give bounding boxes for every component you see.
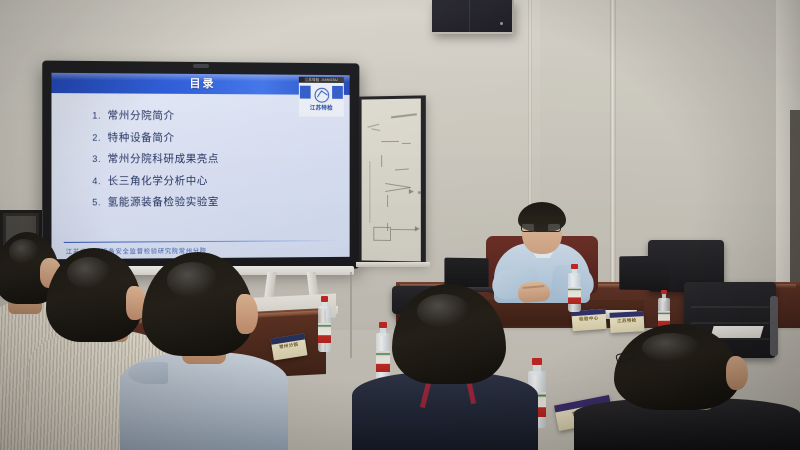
whiteboard-mark	[369, 161, 370, 223]
bottle-label	[568, 287, 581, 304]
bottle-label	[318, 323, 331, 343]
whiteboard-mark	[387, 195, 388, 207]
bottle-neck	[533, 364, 540, 375]
presenter-hands	[517, 281, 551, 304]
water-bottle	[318, 296, 331, 352]
slide-contents-list: 1. 常州分院简介 2. 特种设备简介 3. 常州分院科研成果亮点 4. 长三角…	[92, 107, 344, 216]
list-item-number: 4.	[92, 176, 107, 186]
door-gap	[790, 110, 800, 300]
bottle-cap	[661, 290, 668, 294]
hair-highlight	[642, 333, 700, 362]
whiteboard-mark	[418, 191, 421, 194]
attendee-ear	[236, 294, 258, 334]
power-cable	[350, 272, 352, 358]
list-item-label: 长三角化学分析中心	[108, 172, 208, 187]
list-item-label: 氢能源装备检验实验室	[108, 194, 219, 209]
whiteboard-mark	[387, 223, 388, 231]
bottle-cap	[532, 358, 542, 365]
name-placard: 检验中心	[571, 309, 606, 331]
slide-screen: 目录 江苏特检 JIANGSU 江苏特检 1. 常州分院简介 2.	[51, 73, 349, 259]
hair-highlight	[9, 239, 39, 263]
list-item: 3. 常州分院科研成果亮点	[92, 151, 344, 166]
whiteboard-mark	[391, 113, 417, 118]
glasses-icon	[521, 223, 561, 232]
wall-column	[610, 0, 616, 300]
whiteboard-mark	[385, 187, 411, 192]
list-item-label: 常州分院简介	[108, 108, 175, 123]
smart-display[interactable]: 目录 江苏特检 JIANGSU 江苏特检 1. 常州分院简介 2.	[44, 62, 362, 270]
water-bottle	[376, 322, 390, 382]
logo-text: 江苏特检	[310, 104, 333, 112]
list-item-number: 1.	[92, 110, 107, 120]
list-item: 5. 氢能源装备检验实验室	[92, 194, 344, 210]
list-item-number: 3.	[92, 154, 107, 164]
whiteboard-mark	[395, 168, 409, 170]
list-item-label: 特种设备简介	[108, 129, 175, 144]
bottle-neck	[380, 327, 386, 337]
list-item: 1. 常州分院简介	[92, 107, 344, 123]
chair-armrest	[770, 296, 778, 356]
list-item-label: 常州分院科研成果亮点	[108, 151, 219, 166]
hair-highlight	[167, 262, 219, 297]
glasses-left-lens	[521, 223, 535, 232]
bottle-cap	[321, 296, 328, 302]
placard-text: 江苏特检	[610, 317, 644, 325]
bottle-neck	[662, 294, 667, 301]
speaker-led	[500, 22, 503, 25]
whiteboard	[359, 95, 426, 264]
speaker-seam	[469, 0, 470, 32]
glasses-right-lens	[547, 223, 561, 232]
whiteboard-arrowhead	[409, 189, 414, 194]
chair-seam	[691, 306, 768, 308]
whiteboard-mark	[371, 128, 380, 131]
bottle-label	[376, 351, 390, 373]
whiteboard-tray	[356, 262, 430, 267]
paper-document	[710, 326, 763, 338]
bottle-cap	[379, 322, 387, 328]
whiteboard-mark	[367, 124, 379, 128]
name-placard: 江苏特检	[609, 311, 644, 333]
laptop-screen[interactable]	[619, 256, 669, 291]
whiteboard-mark	[381, 141, 399, 142]
hair-highlight	[67, 257, 111, 289]
speaker-icon	[432, 0, 514, 34]
whiteboard-mark	[402, 143, 411, 144]
chair-seam	[691, 322, 768, 324]
attendee-shoulder	[128, 362, 168, 384]
whiteboard-mark	[391, 229, 417, 231]
display-bezel: 目录 江苏特检 JIANGSU 江苏特检 1. 常州分院简介 2.	[42, 61, 359, 272]
list-item-number: 5.	[92, 197, 107, 207]
bottle-neck	[322, 300, 327, 309]
conference-room-photo: 目录 江苏特检 JIANGSU 江苏特检 1. 常州分院简介 2.	[0, 0, 800, 450]
slide-footer-rule	[64, 240, 338, 243]
whiteboard-arrowhead	[415, 226, 420, 231]
water-bottle	[568, 264, 581, 312]
hair-highlight	[417, 294, 469, 328]
list-item-number: 2.	[92, 132, 107, 142]
attendee-ear	[726, 356, 748, 390]
whiteboard-mark	[381, 155, 382, 167]
list-item: 2. 特种设备简介	[92, 129, 344, 145]
glasses-bridge	[535, 227, 547, 228]
bottle-neck	[572, 268, 577, 276]
bottle-cap	[571, 264, 578, 269]
list-item: 4. 长三角化学分析中心	[92, 172, 344, 187]
placard-text: 检验中心	[572, 315, 606, 323]
logo-emblem-icon	[314, 88, 329, 103]
